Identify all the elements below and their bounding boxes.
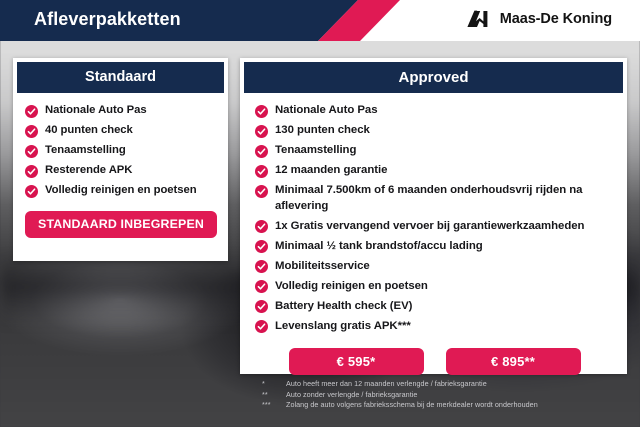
- card-title-standaard: Standaard: [17, 62, 224, 93]
- feature-list-approved: Nationale Auto Pas 130 punten check Tena…: [255, 103, 614, 334]
- list-item: Mobiliteitsservice: [255, 259, 614, 275]
- footnote-marker: *: [262, 379, 286, 390]
- check-circle-icon: [255, 320, 268, 333]
- feature-label: Nationale Auto Pas: [275, 103, 377, 119]
- list-item: Nationale Auto Pas: [255, 103, 614, 119]
- check-circle-icon: [25, 105, 38, 118]
- footnote-1: * Auto heeft meer dan 12 maanden verleng…: [262, 379, 632, 390]
- feature-label: Levenslang gratis APK***: [275, 319, 411, 335]
- feature-label: 40 punten check: [45, 123, 133, 138]
- price-button-595[interactable]: € 595*: [289, 348, 424, 375]
- list-item: Tenaamstelling: [25, 143, 216, 158]
- footnote-2: ** Auto zonder verlengde / fabrieksgaran…: [262, 390, 632, 401]
- check-circle-icon: [255, 220, 268, 233]
- brand-name: Maas-De Koning: [500, 11, 612, 27]
- check-circle-icon: [255, 300, 268, 313]
- maas-de-koning-m-logo-icon: [467, 10, 493, 28]
- list-item: 130 punten check: [255, 123, 614, 139]
- list-item: Minimaal ½ tank brandstof/accu lading: [255, 239, 614, 255]
- check-circle-icon: [25, 165, 38, 178]
- feature-label: Tenaamstelling: [275, 143, 356, 159]
- check-circle-icon: [25, 145, 38, 158]
- list-item: Resterende APK: [25, 163, 216, 178]
- feature-label: Nationale Auto Pas: [45, 103, 147, 118]
- check-circle-icon: [255, 260, 268, 273]
- feature-label: Minimaal ½ tank brandstof/accu lading: [275, 239, 483, 255]
- footnote-text: Zolang de auto volgens fabrieksschema bi…: [286, 400, 632, 411]
- price-button-895[interactable]: € 895**: [446, 348, 581, 375]
- list-item: Battery Health check (EV): [255, 299, 614, 315]
- check-circle-icon: [255, 105, 268, 118]
- list-item: Volledig reinigen en poetsen: [25, 183, 216, 198]
- list-item: Levenslang gratis APK***: [255, 319, 614, 335]
- footnote-3: *** Zolang de auto volgens fabrieksschem…: [262, 400, 632, 411]
- check-circle-icon: [255, 125, 268, 138]
- footnote-marker: ***: [262, 400, 286, 411]
- feature-label: Battery Health check (EV): [275, 299, 412, 315]
- delivery-packages-screen: Afleverpakketten Maas-De Koning Standaar…: [0, 0, 640, 427]
- feature-label: Volledig reinigen en poetsen: [45, 183, 197, 198]
- list-item: Tenaamstelling: [255, 143, 614, 159]
- feature-label: Resterende APK: [45, 163, 132, 178]
- list-item: Nationale Auto Pas: [25, 103, 216, 118]
- page-header: Afleverpakketten Maas-De Koning: [0, 0, 640, 41]
- package-card-standaard: Standaard Nationale Auto Pas 40 punten c…: [13, 58, 228, 261]
- feature-label: 12 maanden garantie: [275, 163, 387, 179]
- price-button-row: € 595* € 895**: [255, 348, 614, 375]
- check-circle-icon: [255, 145, 268, 158]
- feature-label: Minimaal 7.500km of 6 maanden onderhouds…: [275, 183, 614, 214]
- footnotes: * Auto heeft meer dan 12 maanden verleng…: [262, 379, 632, 411]
- check-circle-icon: [255, 185, 268, 198]
- list-item: 40 punten check: [25, 123, 216, 138]
- standaard-inbegrepen-button[interactable]: STANDAARD INBEGREPEN: [25, 211, 217, 238]
- page-title: Afleverpakketten: [34, 9, 181, 30]
- feature-label: 130 punten check: [275, 123, 370, 139]
- check-circle-icon: [25, 185, 38, 198]
- check-circle-icon: [255, 240, 268, 253]
- footnote-marker: **: [262, 390, 286, 401]
- footnote-text: Auto heeft meer dan 12 maanden verlengde…: [286, 379, 632, 390]
- list-item: Volledig reinigen en poetsen: [255, 279, 614, 295]
- package-card-approved: Approved Nationale Auto Pas 130 punten c…: [240, 58, 627, 374]
- brand-logo: Maas-De Koning: [467, 10, 612, 28]
- feature-label: Volledig reinigen en poetsen: [275, 279, 428, 295]
- check-circle-icon: [255, 280, 268, 293]
- feature-label: Tenaamstelling: [45, 143, 126, 158]
- list-item: 1x Gratis vervangend vervoer bij garanti…: [255, 219, 614, 235]
- feature-label: Mobiliteitsservice: [275, 259, 370, 275]
- feature-label: 1x Gratis vervangend vervoer bij garanti…: [275, 219, 584, 235]
- footnote-text: Auto zonder verlengde / fabrieksgarantie: [286, 390, 632, 401]
- card-body-approved: Nationale Auto Pas 130 punten check Tena…: [240, 93, 627, 375]
- card-title-approved: Approved: [244, 62, 623, 93]
- list-item: 12 maanden garantie: [255, 163, 614, 179]
- feature-list-standaard: Nationale Auto Pas 40 punten check Tenaa…: [25, 103, 216, 198]
- card-body-standaard: Nationale Auto Pas 40 punten check Tenaa…: [13, 93, 228, 238]
- check-circle-icon: [255, 165, 268, 178]
- check-circle-icon: [25, 125, 38, 138]
- list-item: Minimaal 7.500km of 6 maanden onderhouds…: [255, 183, 614, 214]
